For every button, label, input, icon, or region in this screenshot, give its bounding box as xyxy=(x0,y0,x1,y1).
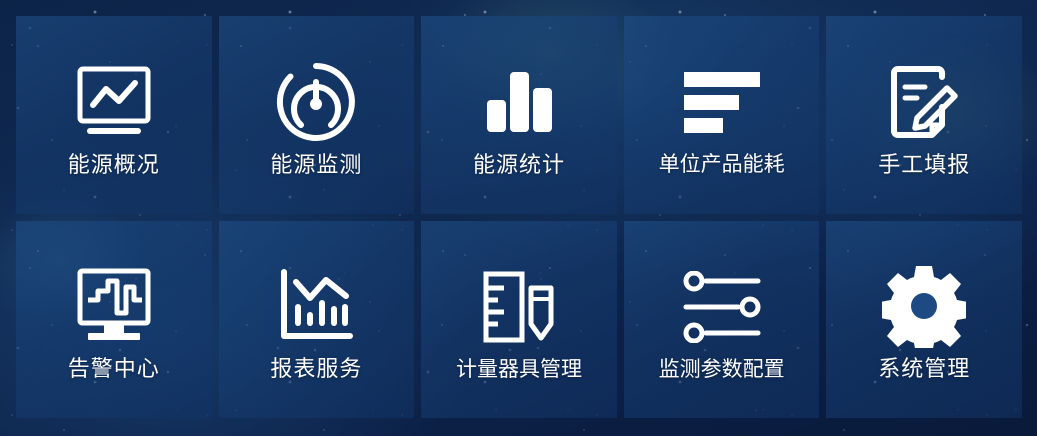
menu-tile-monitoring-parameter-config[interactable]: 监测参数配置 xyxy=(624,221,820,419)
menu-tile-label: 告警中心 xyxy=(68,358,160,380)
menu-tile-label: 能源概况 xyxy=(68,154,160,176)
horizontal-bars-icon xyxy=(624,54,820,150)
menu-tile-energy-monitoring[interactable]: 能源监测 xyxy=(219,16,415,214)
gauge-dial-icon xyxy=(219,54,415,150)
menu-tile-label: 系统管理 xyxy=(878,358,970,380)
menu-tile-label: 报表服务 xyxy=(270,358,362,380)
menu-tile-report-service[interactable]: 报表服务 xyxy=(219,221,415,419)
menu-tile-alarm-center[interactable]: 告警中心 xyxy=(16,221,212,419)
menu-tile-label: 能源监测 xyxy=(270,154,362,176)
menu-tile-label: 手工填报 xyxy=(878,154,970,176)
monitor-waveform-icon xyxy=(16,258,212,354)
menu-tile-unit-product-consumption[interactable]: 单位产品能耗 xyxy=(624,16,820,214)
menu-tile-label: 计量器具管理 xyxy=(456,359,582,380)
dashboard-menu-screen: 能源概况 能源监测 能源统计 xyxy=(0,0,1037,436)
menu-tile-label: 监测参数配置 xyxy=(659,359,785,380)
menu-grid: 能源概况 能源监测 能源统计 xyxy=(16,16,1022,418)
monitor-line-chart-icon xyxy=(16,54,212,150)
menu-tile-label: 能源统计 xyxy=(473,154,565,176)
bar-line-chart-axis-icon xyxy=(219,258,415,354)
sliders-icon xyxy=(624,259,820,355)
ruler-pencil-icon xyxy=(421,259,617,355)
menu-tile-energy-overview[interactable]: 能源概况 xyxy=(16,16,212,214)
gear-icon xyxy=(826,258,1022,354)
menu-tile-system-management[interactable]: 系统管理 xyxy=(826,221,1022,419)
menu-tile-energy-statistics[interactable]: 能源统计 xyxy=(421,16,617,214)
bar-chart-icon xyxy=(421,54,617,150)
menu-tile-metering-device-management[interactable]: 计量器具管理 xyxy=(421,221,617,419)
menu-tile-manual-entry[interactable]: 手工填报 xyxy=(826,16,1022,214)
notepad-pencil-icon xyxy=(826,54,1022,150)
menu-tile-label: 单位产品能耗 xyxy=(659,154,785,175)
